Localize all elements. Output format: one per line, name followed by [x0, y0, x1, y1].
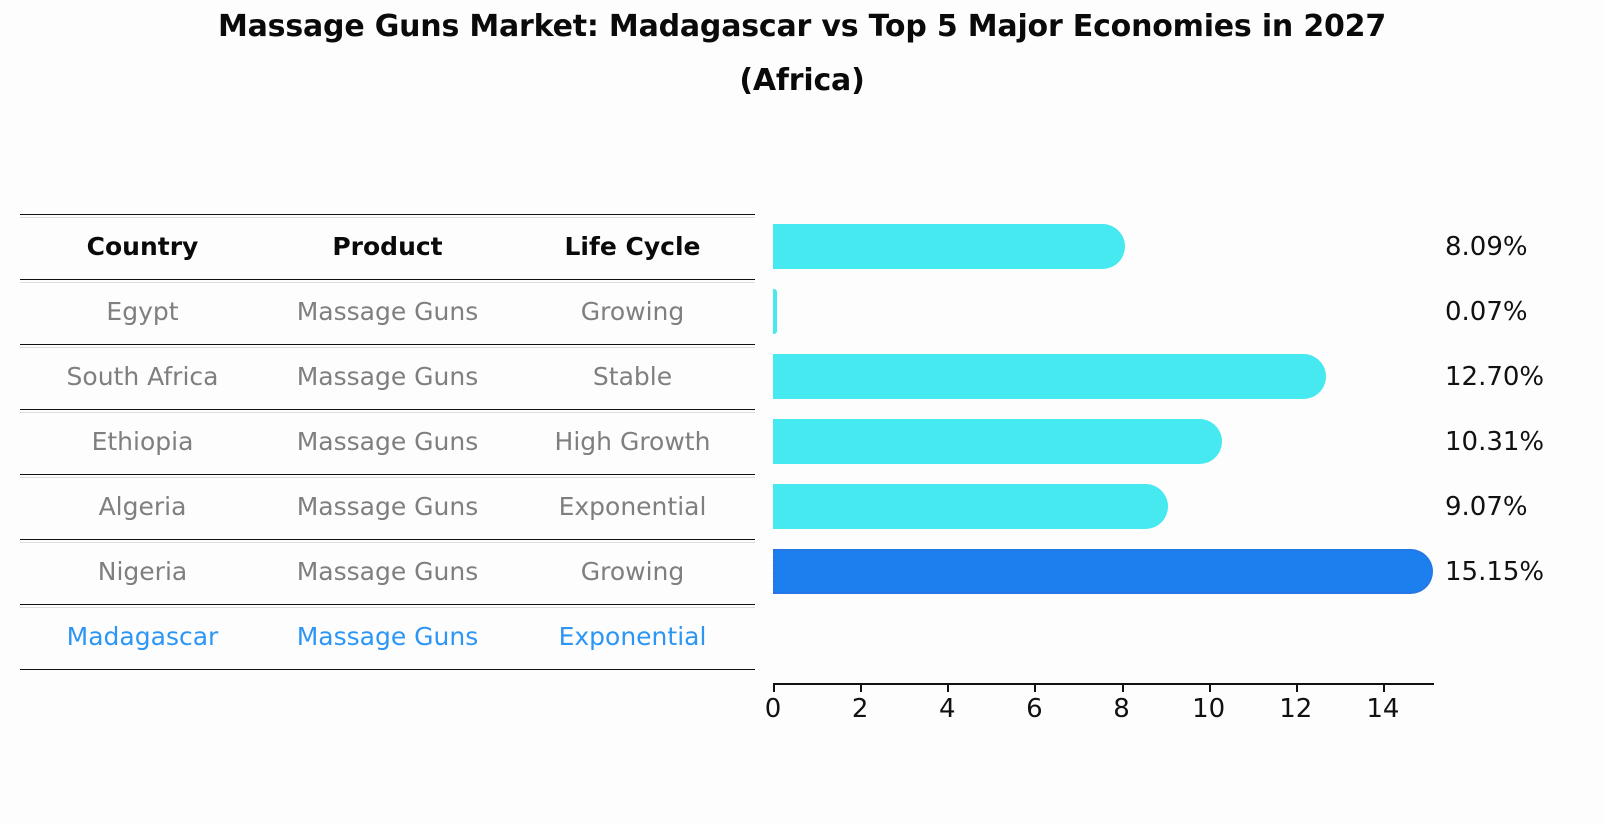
- bar-value-label: 8.09%: [1445, 214, 1528, 279]
- cell-product: Massage Guns: [265, 427, 510, 456]
- chart-title-line-2: (Africa): [0, 66, 1604, 96]
- x-axis-tick: [1383, 683, 1385, 692]
- table-rule-hairline: [20, 412, 755, 413]
- x-axis-tick-label: 6: [1026, 694, 1043, 724]
- table-rule: [20, 604, 755, 605]
- cell-country: South Africa: [20, 362, 265, 391]
- cell-product: Massage Guns: [265, 557, 510, 586]
- cell-life-cycle: Stable: [510, 362, 755, 391]
- column-header-product: Product: [265, 232, 510, 261]
- data-table: Country Product Life Cycle Egypt Massage…: [20, 214, 755, 673]
- x-axis-tick-label: 14: [1366, 694, 1399, 724]
- x-axis-tick: [1209, 683, 1211, 692]
- cell-life-cycle: Exponential: [510, 492, 755, 521]
- table-rule-hairline: [20, 282, 755, 283]
- bar-ethiopia[interactable]: [773, 354, 1326, 399]
- bar-madagascar[interactable]: [773, 549, 1433, 594]
- bar-row: 8.09%: [773, 214, 1453, 279]
- table-row[interactable]: Algeria Massage Guns Exponential: [20, 474, 755, 539]
- bar-algeria[interactable]: [773, 419, 1222, 464]
- bar-egypt[interactable]: [773, 224, 1125, 269]
- table-header-row: Country Product Life Cycle: [20, 214, 755, 279]
- table-row-highlighted[interactable]: Madagascar Massage Guns Exponential: [20, 604, 755, 669]
- bar-south-africa[interactable]: [773, 289, 777, 334]
- chart-title-line-1: Massage Guns Market: Madagascar vs Top 5…: [0, 12, 1604, 42]
- x-axis-tick: [947, 683, 949, 692]
- bar-row: 9.07%: [773, 474, 1453, 539]
- cell-product: Massage Guns: [265, 622, 510, 651]
- table-row[interactable]: Ethiopia Massage Guns High Growth: [20, 409, 755, 474]
- x-axis: 02468101214: [773, 683, 1433, 743]
- table-rule-hairline: [20, 542, 755, 543]
- x-axis-tick-label: 0: [765, 694, 782, 724]
- bar-value-label: 0.07%: [1445, 279, 1528, 344]
- cell-product: Massage Guns: [265, 362, 510, 391]
- bar-row: 10.31%: [773, 409, 1453, 474]
- x-axis-tick: [773, 683, 775, 692]
- column-header-country: Country: [20, 232, 265, 261]
- table-rule-hairline: [20, 477, 755, 478]
- cell-life-cycle: Growing: [510, 297, 755, 326]
- x-axis-tick: [1122, 683, 1124, 692]
- table-rule-hairline: [20, 607, 755, 608]
- cell-life-cycle: Exponential: [510, 622, 755, 651]
- table-rule-hairline: [20, 347, 755, 348]
- table-rule: [20, 474, 755, 475]
- table-row[interactable]: Nigeria Massage Guns Growing: [20, 539, 755, 604]
- table-rule: [20, 344, 755, 345]
- x-axis-tick-label: 8: [1113, 694, 1130, 724]
- table-rule: [20, 279, 755, 280]
- cell-life-cycle: High Growth: [510, 427, 755, 456]
- x-axis-tick-label: 12: [1279, 694, 1312, 724]
- table-rule-bottom: [20, 669, 755, 670]
- bar-value-label: 10.31%: [1445, 409, 1544, 474]
- x-axis-line: [773, 683, 1434, 685]
- x-axis-tick: [860, 683, 862, 692]
- bar-row: 0.07%: [773, 279, 1453, 344]
- x-axis-tick: [1296, 683, 1298, 692]
- table-row[interactable]: Egypt Massage Guns Growing: [20, 279, 755, 344]
- table-rule: [20, 409, 755, 410]
- cell-country: Nigeria: [20, 557, 265, 586]
- chart-title: Massage Guns Market: Madagascar vs Top 5…: [0, 12, 1604, 96]
- table-rule: [20, 539, 755, 540]
- cell-country: Algeria: [20, 492, 265, 521]
- cell-country: Ethiopia: [20, 427, 265, 456]
- column-header-life-cycle: Life Cycle: [510, 232, 755, 261]
- bar-value-label: 12.70%: [1445, 344, 1544, 409]
- bar-row: 12.70%: [773, 344, 1453, 409]
- bar-nigeria[interactable]: [773, 484, 1168, 529]
- bar-value-label: 15.15%: [1445, 539, 1544, 604]
- cell-product: Massage Guns: [265, 492, 510, 521]
- x-axis-tick-label: 2: [852, 694, 869, 724]
- x-axis-tick-label: 10: [1192, 694, 1225, 724]
- table-rule: [20, 214, 755, 215]
- chart-figure: Massage Guns Market: Madagascar vs Top 5…: [0, 0, 1604, 823]
- bar-value-label: 9.07%: [1445, 474, 1528, 539]
- bar-chart-plot: 8.09% 0.07% 12.70% 10.31% 9.07% 15.15%: [773, 214, 1453, 683]
- x-axis-tick-label: 4: [939, 694, 956, 724]
- cell-life-cycle: Growing: [510, 557, 755, 586]
- cell-country: Egypt: [20, 297, 265, 326]
- cell-product: Massage Guns: [265, 297, 510, 326]
- table-rule-hairline: [20, 217, 755, 218]
- table-row[interactable]: South Africa Massage Guns Stable: [20, 344, 755, 409]
- x-axis-tick: [1034, 683, 1036, 692]
- cell-country: Madagascar: [20, 622, 265, 651]
- bar-row: 15.15%: [773, 539, 1453, 604]
